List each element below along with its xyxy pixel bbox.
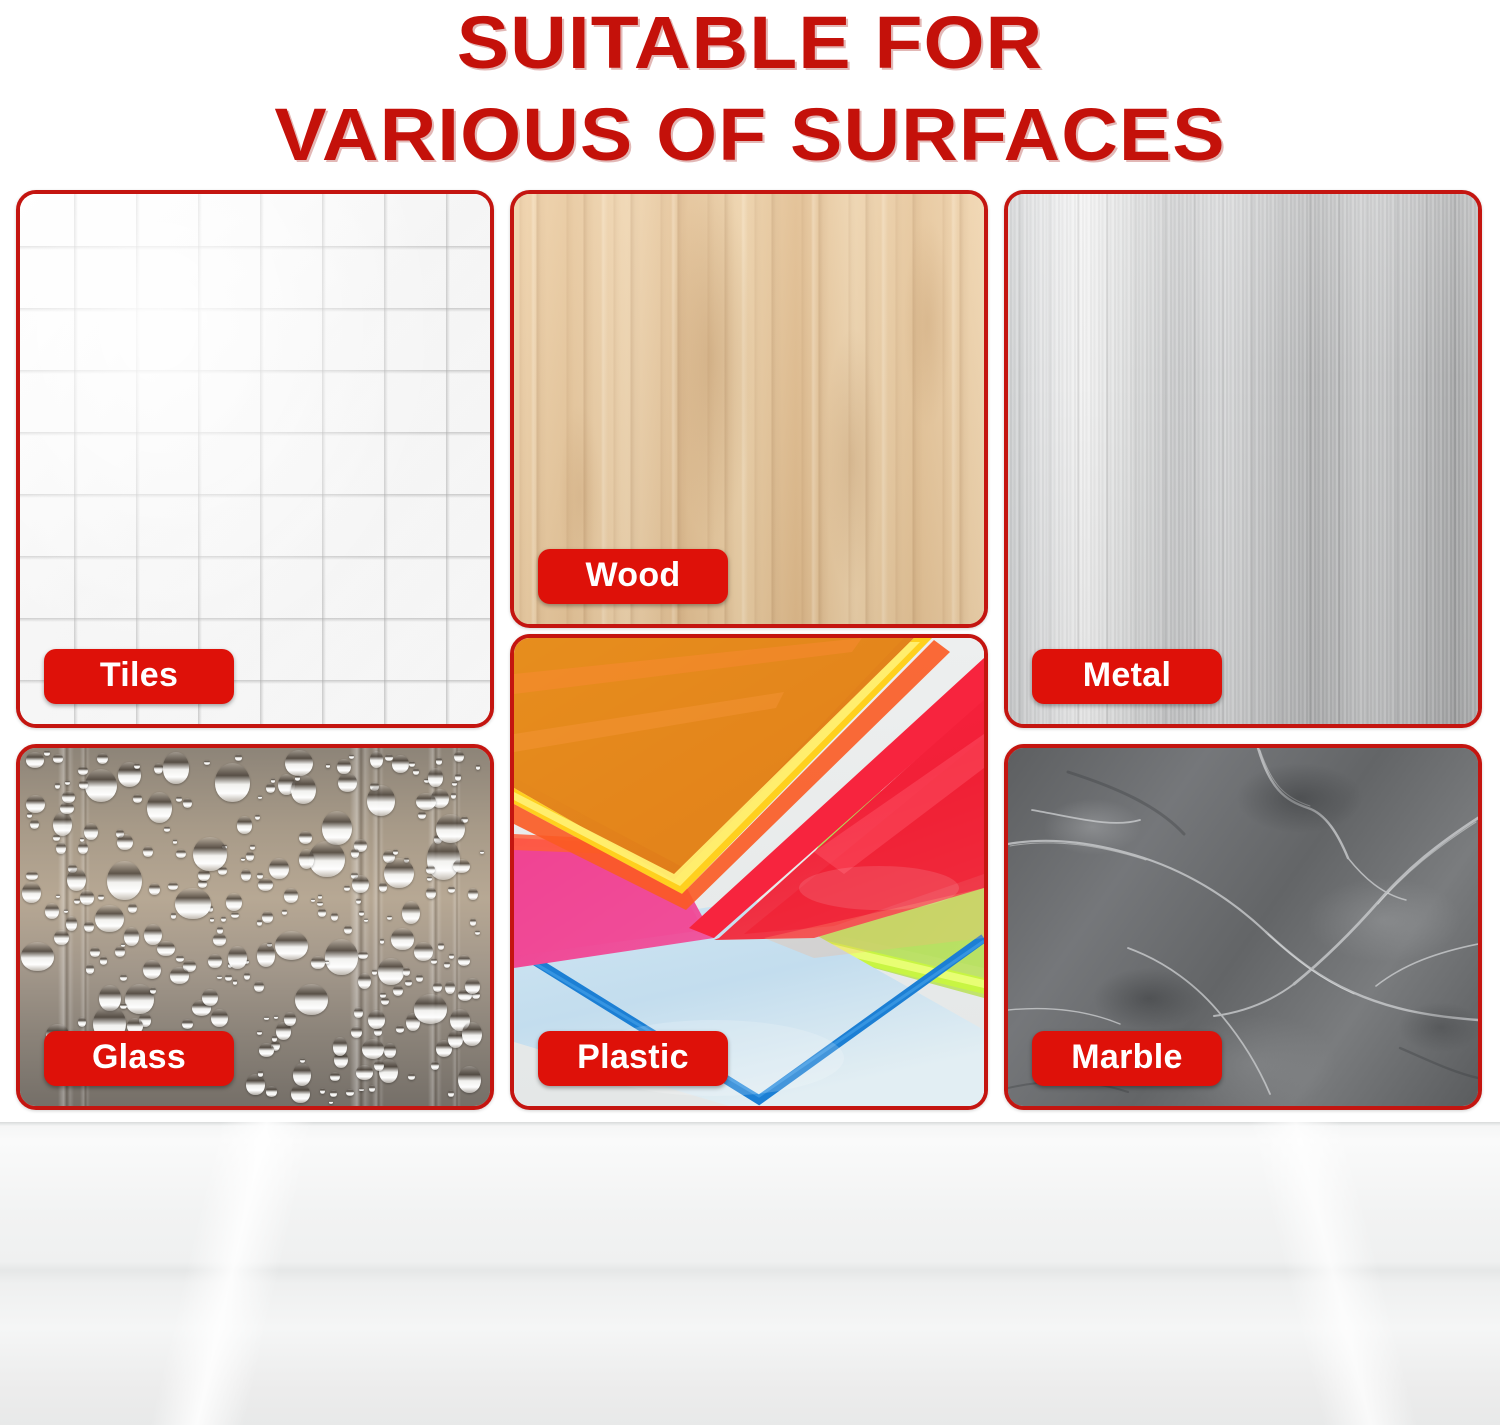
- water-droplet: [372, 969, 377, 974]
- water-droplet: [426, 887, 436, 899]
- water-droplet: [364, 918, 368, 923]
- water-droplet: [322, 811, 352, 845]
- water-droplet: [255, 814, 260, 820]
- water-droplet: [458, 1066, 481, 1093]
- water-droplet: [246, 1074, 265, 1095]
- water-droplet: [233, 979, 238, 984]
- water-droplet: [237, 816, 252, 833]
- water-droplet: [385, 754, 393, 762]
- water-droplet: [325, 939, 359, 975]
- water-droplet: [133, 794, 142, 803]
- water-droplet: [408, 1073, 415, 1080]
- water-droplet: [359, 1088, 363, 1092]
- water-droplet: [266, 783, 275, 793]
- water-droplet: [291, 1084, 310, 1103]
- water-droplet: [416, 793, 436, 811]
- water-droplet: [476, 764, 480, 769]
- water-droplet: [271, 778, 275, 783]
- water-droplet: [468, 888, 478, 900]
- surface-label-wood: Wood: [538, 549, 728, 604]
- water-droplet: [331, 912, 338, 921]
- water-droplet: [346, 1089, 353, 1096]
- water-droplet: [143, 846, 153, 857]
- water-droplet: [241, 869, 251, 881]
- water-droplet: [266, 1086, 278, 1096]
- water-droplet: [358, 973, 371, 989]
- water-droplet: [257, 919, 262, 925]
- water-droplet: [333, 1037, 348, 1056]
- water-droplet: [367, 785, 395, 816]
- water-droplet: [311, 898, 315, 902]
- water-droplet: [374, 1060, 384, 1071]
- water-droplet: [262, 911, 273, 923]
- water-droplet: [26, 871, 37, 881]
- water-droplet: [258, 795, 262, 799]
- water-droplet: [465, 978, 479, 994]
- water-droplet: [431, 958, 437, 964]
- water-droplet: [107, 861, 142, 900]
- water-droplet: [53, 812, 72, 836]
- water-droplet: [128, 903, 137, 913]
- water-droplet: [391, 928, 414, 950]
- water-droplet: [163, 752, 190, 784]
- water-droplet: [330, 1090, 336, 1097]
- header: SUITABLE FOR VARIOUS OF SURFACES: [0, 0, 1500, 182]
- water-droplet: [369, 1085, 375, 1091]
- water-droplet: [53, 754, 62, 762]
- water-droplet: [272, 1035, 277, 1041]
- water-droplet: [221, 916, 226, 922]
- water-droplet: [402, 901, 420, 924]
- page-title-line-1: SUITABLE FOR: [0, 0, 1500, 80]
- water-droplet: [170, 967, 189, 984]
- water-droplet: [78, 842, 88, 854]
- water-droplet: [79, 780, 88, 788]
- water-droplet: [80, 837, 84, 842]
- water-droplet: [149, 883, 160, 895]
- glass-streak: [452, 748, 461, 1106]
- water-droplet: [330, 1072, 339, 1081]
- water-droplet: [282, 909, 287, 915]
- water-droplet: [449, 953, 454, 959]
- water-droplet: [413, 768, 420, 775]
- water-droplet: [45, 903, 58, 919]
- bottom-countertop-surface: [0, 1122, 1500, 1425]
- water-droplet: [54, 930, 68, 946]
- water-droplet: [257, 943, 276, 967]
- water-droplet: [338, 773, 357, 792]
- water-droplet: [433, 982, 442, 992]
- water-droplet: [384, 1043, 396, 1058]
- water-droplet: [351, 1026, 362, 1038]
- water-droplet: [436, 814, 465, 843]
- water-droplet: [257, 1030, 262, 1036]
- water-droplet: [235, 754, 243, 761]
- water-droplet: [309, 841, 345, 877]
- water-droplet: [65, 780, 70, 785]
- water-droplet: [228, 946, 247, 969]
- water-droplet: [445, 981, 455, 994]
- water-droplet: [311, 956, 324, 969]
- water-droplet: [120, 1003, 127, 1010]
- water-droplet: [225, 974, 231, 981]
- water-droplet: [231, 912, 239, 919]
- water-droplet: [150, 987, 156, 994]
- water-droplet: [387, 915, 392, 920]
- water-droplet: [85, 769, 117, 803]
- water-droplet: [211, 1009, 228, 1027]
- water-droplet: [428, 768, 443, 787]
- water-droplet: [379, 882, 387, 892]
- surface-card-wood[interactable]: Wood: [510, 190, 988, 628]
- water-droplet: [115, 946, 125, 957]
- water-droplet: [244, 972, 250, 980]
- surface-label-glass: Glass: [44, 1031, 234, 1086]
- water-droplet: [215, 763, 250, 802]
- water-droplet: [454, 751, 464, 762]
- surface-card-tiles[interactable]: Tiles: [16, 190, 494, 728]
- water-droplet: [21, 942, 54, 971]
- water-droplet: [344, 885, 349, 891]
- surface-label-tiles: Tiles: [44, 649, 234, 704]
- water-droplet: [182, 1019, 193, 1029]
- water-droplet: [78, 1017, 87, 1027]
- water-droplet: [27, 812, 32, 818]
- water-droplet: [362, 1039, 384, 1060]
- water-droplet: [295, 775, 301, 780]
- water-droplet: [269, 858, 289, 880]
- water-droplet: [344, 925, 352, 934]
- water-droplet: [143, 960, 161, 979]
- water-droplet: [259, 1043, 274, 1056]
- water-droplet: [30, 819, 39, 829]
- page-title-line-2: VARIOUS OF SURFACES: [0, 80, 1500, 172]
- water-droplet: [384, 858, 414, 889]
- water-droplet: [414, 994, 447, 1024]
- surface-label-marble: Marble: [1032, 1031, 1222, 1086]
- water-droplet: [337, 759, 350, 774]
- water-droplet: [356, 898, 361, 904]
- water-droplet: [44, 750, 50, 756]
- water-droplet: [258, 1070, 264, 1076]
- water-droplet: [427, 876, 432, 880]
- water-droplet: [193, 837, 227, 871]
- water-droplet: [351, 848, 360, 858]
- water-droplet: [300, 1058, 305, 1063]
- water-droplet: [354, 1007, 362, 1018]
- water-droplet: [448, 1090, 454, 1097]
- water-droplet: [254, 981, 264, 993]
- water-droplet: [217, 975, 222, 979]
- water-droplet: [403, 967, 411, 976]
- water-droplet: [452, 781, 457, 785]
- water-droplet: [264, 1016, 268, 1020]
- water-droplet: [444, 961, 450, 968]
- water-droplet: [202, 989, 217, 1006]
- surface-label-plastic: Plastic: [538, 1031, 728, 1086]
- water-droplet: [431, 1061, 439, 1070]
- water-droplet: [326, 763, 331, 767]
- water-droplet: [317, 901, 323, 906]
- water-droplet: [356, 1065, 373, 1080]
- water-droplet: [462, 1022, 482, 1046]
- water-droplet: [455, 773, 462, 780]
- water-droplet: [392, 755, 409, 773]
- water-droplet: [26, 752, 44, 768]
- water-droplet: [436, 757, 442, 764]
- water-droplet: [359, 910, 365, 916]
- water-droplet: [299, 849, 314, 869]
- water-droplet: [274, 1015, 278, 1020]
- water-droplet: [26, 795, 45, 813]
- water-droplet: [95, 905, 123, 933]
- surface-gallery: Tiles Wood Metal Glass: [0, 182, 1500, 1122]
- water-droplet: [60, 802, 74, 815]
- water-droplet: [78, 766, 88, 775]
- water-droplet: [117, 834, 132, 850]
- water-droplet: [284, 1012, 295, 1027]
- water-droplet: [284, 888, 298, 902]
- water-droplet: [416, 974, 422, 982]
- surface-card-marble[interactable]: Marble: [1004, 744, 1482, 1110]
- water-droplet: [426, 865, 434, 874]
- water-droplet: [86, 964, 95, 974]
- water-droplet: [299, 831, 312, 844]
- surface-card-metal[interactable]: Metal: [1004, 190, 1482, 728]
- surface-label-metal: Metal: [1032, 649, 1222, 704]
- water-droplet: [173, 839, 178, 843]
- water-droplet: [157, 941, 175, 956]
- water-droplet: [250, 844, 255, 849]
- water-droplet: [100, 956, 108, 964]
- water-droplet: [438, 942, 444, 950]
- water-droplet: [378, 958, 403, 985]
- water-droplet: [393, 985, 403, 996]
- water-droplet: [381, 997, 389, 1005]
- water-droplet: [80, 890, 94, 905]
- water-droplet: [414, 942, 432, 961]
- water-droplet: [458, 955, 470, 966]
- water-droplet: [448, 1030, 463, 1048]
- metal-texture: [1008, 194, 1478, 724]
- water-droplet: [210, 917, 215, 922]
- water-droplet: [84, 921, 93, 932]
- water-droplet: [275, 931, 308, 960]
- surface-card-glass[interactable]: Glass: [16, 744, 494, 1110]
- water-droplet: [380, 938, 384, 943]
- water-droplet: [154, 763, 163, 774]
- tiles-texture: [20, 194, 490, 724]
- water-droplet: [285, 750, 313, 777]
- water-droplet: [171, 912, 177, 919]
- water-droplet: [56, 894, 60, 898]
- water-droplet: [175, 888, 211, 919]
- surface-card-plastic[interactable]: Plastic: [510, 634, 988, 1110]
- water-droplet: [318, 894, 323, 899]
